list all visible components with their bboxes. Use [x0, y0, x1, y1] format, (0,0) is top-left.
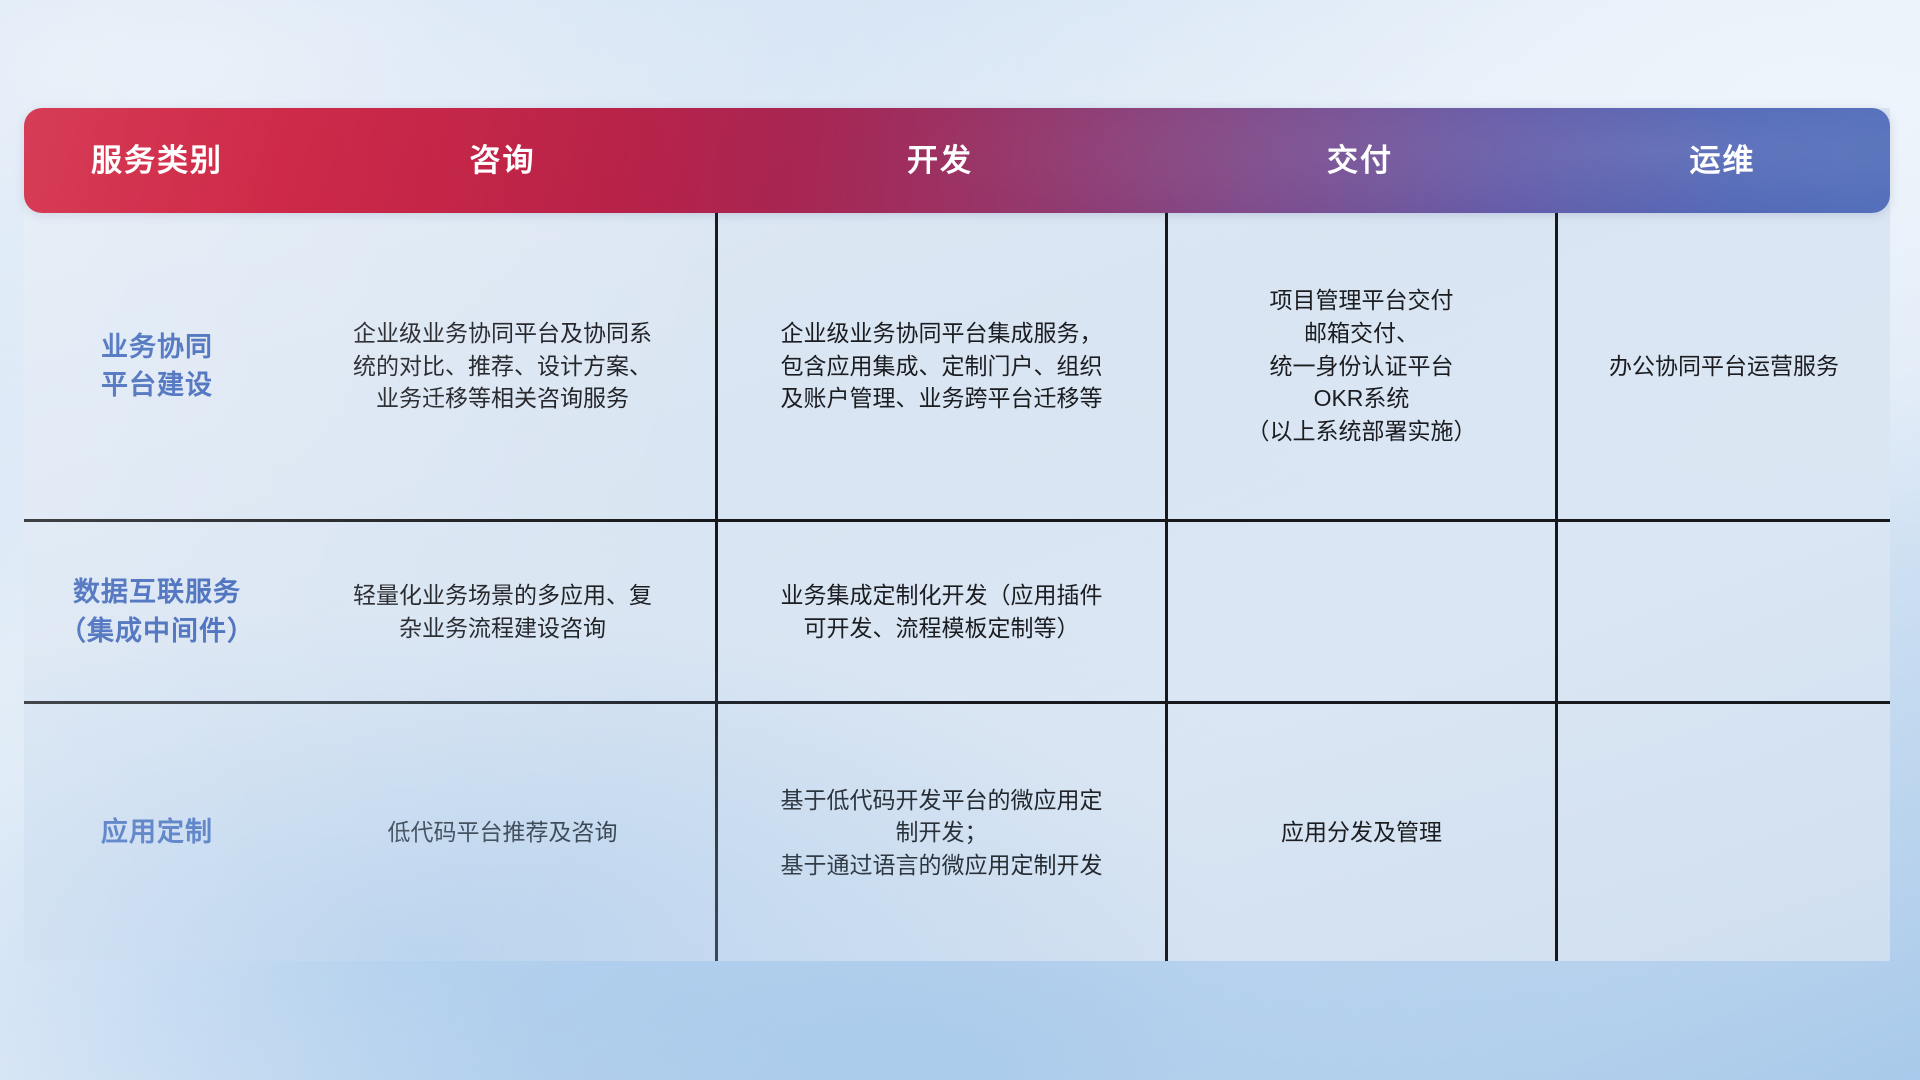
table-row: 业务协同 平台建设 企业级业务协同平台及协同系 统的对比、推荐、设计方案、 业务… — [24, 213, 1890, 519]
slide-canvas: 服务类别 咨询 开发 交付 运维 业务协同 平台建设 企业级业务协同平台及协同系… — [0, 0, 1920, 1080]
column-header-delivery: 交付 — [1165, 142, 1555, 179]
cell-row2-consulting: 低代码平台推荐及咨询 — [290, 704, 715, 961]
row-label-data-interconnect: 数据互联服务 （集成中间件） — [24, 522, 290, 701]
table-header-row: 服务类别 咨询 开发 交付 运维 — [24, 108, 1890, 213]
table-body: 业务协同 平台建设 企业级业务协同平台及协同系 统的对比、推荐、设计方案、 业务… — [24, 213, 1890, 961]
cell-row1-consulting: 轻量化业务场景的多应用、复 杂业务流程建设咨询 — [290, 522, 715, 701]
cell-row1-development: 业务集成定制化开发（应用插件 可开发、流程模板定制等） — [715, 522, 1165, 701]
cell-row2-operations — [1555, 704, 1890, 961]
column-header-development: 开发 — [715, 142, 1165, 179]
service-matrix-table: 服务类别 咨询 开发 交付 运维 业务协同 平台建设 企业级业务协同平台及协同系… — [24, 108, 1890, 961]
column-header-consulting: 咨询 — [290, 142, 715, 179]
cell-row0-development: 企业级业务协同平台集成服务， 包含应用集成、定制门户、组织 及账户管理、业务跨平… — [715, 213, 1165, 519]
column-header-category: 服务类别 — [24, 142, 290, 179]
table-row: 应用定制 低代码平台推荐及咨询 基于低代码开发平台的微应用定 制开发； 基于通过… — [24, 701, 1890, 961]
table-row: 数据互联服务 （集成中间件） 轻量化业务场景的多应用、复 杂业务流程建设咨询 业… — [24, 519, 1890, 701]
column-header-operations: 运维 — [1555, 142, 1890, 179]
cell-row2-development: 基于低代码开发平台的微应用定 制开发； 基于通过语言的微应用定制开发 — [715, 704, 1165, 961]
cell-row1-operations — [1555, 522, 1890, 701]
cell-row0-consulting: 企业级业务协同平台及协同系 统的对比、推荐、设计方案、 业务迁移等相关咨询服务 — [290, 213, 715, 519]
cell-row0-delivery: 项目管理平台交付 邮箱交付、 统一身份认证平台 OKR系统 （以上系统部署实施） — [1165, 213, 1555, 519]
cell-row1-delivery — [1165, 522, 1555, 701]
cell-row2-delivery: 应用分发及管理 — [1165, 704, 1555, 961]
cell-row0-operations: 办公协同平台运营服务 — [1555, 213, 1890, 519]
row-label-app-customization: 应用定制 — [24, 704, 290, 961]
row-label-business-collaboration: 业务协同 平台建设 — [24, 213, 290, 519]
